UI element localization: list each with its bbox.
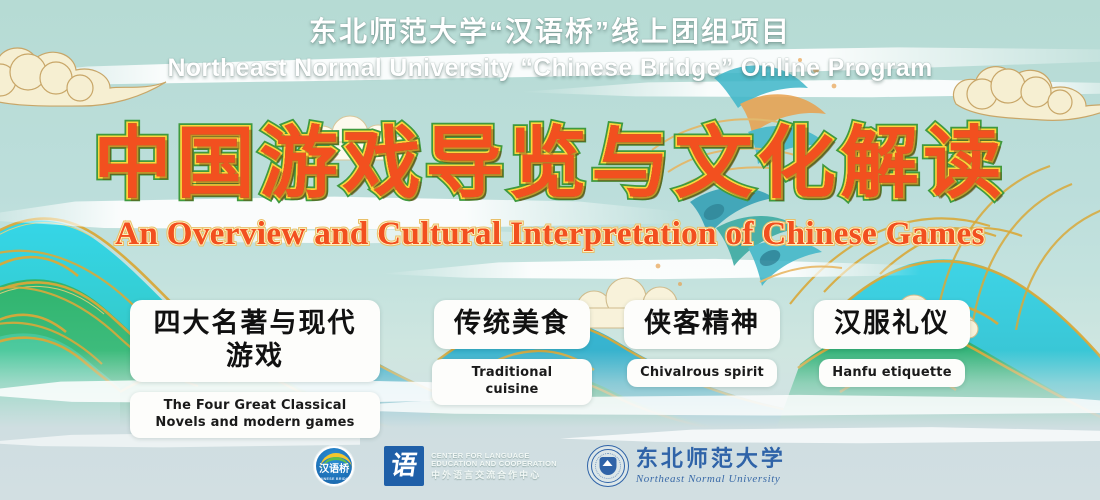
topic-3-en: Chivalrous spirit bbox=[627, 359, 777, 388]
clec-line-3: 中外语言交流合作中心 bbox=[431, 470, 557, 480]
main-title-block: 中国游戏导览与文化解读 bbox=[0, 124, 1100, 202]
chinese-bridge-logo-cn: 汉语桥 bbox=[316, 465, 352, 475]
header-block: 东北师范大学“汉语桥”线上团组项目 Northeast Normal Unive… bbox=[0, 14, 1100, 84]
topic-card-3[interactable]: 侠客精神 Chivalrous spirit bbox=[622, 300, 782, 387]
topic-1-en: The Four Great Classical Novels and mode… bbox=[130, 392, 380, 438]
university-seal-icon bbox=[587, 445, 629, 487]
university-name-en: Northeast Normal University bbox=[636, 473, 786, 485]
footer-logo-bar: 汉语桥 CHINESE BRIDGE 语 CENTER FOR LANGUAGE… bbox=[0, 438, 1100, 494]
header-title-en: Northeast Normal University “Chinese Bri… bbox=[0, 53, 1100, 84]
university-text-block: 东北师范大学 Northeast Normal University bbox=[636, 447, 786, 484]
main-title-en: An Overview and Cultural Interpretation … bbox=[115, 218, 985, 251]
topic-1-cn: 四大名著与现代游戏 bbox=[130, 300, 380, 382]
main-subtitle-block: An Overview and Cultural Interpretation … bbox=[0, 218, 1100, 251]
university-name-cn: 东北师范大学 bbox=[636, 447, 786, 471]
seal-shield-icon bbox=[599, 457, 616, 475]
topic-card-1[interactable]: 四大名著与现代游戏 The Four Great Classical Novel… bbox=[130, 300, 380, 438]
header-title-cn: 东北师范大学“汉语桥”线上团组项目 bbox=[0, 14, 1100, 49]
topic-4-en: Hanfu etiquette bbox=[819, 359, 964, 388]
topic-3-cn: 侠客精神 bbox=[624, 300, 780, 349]
topic-card-2[interactable]: 传统美食 Traditional cuisine bbox=[432, 300, 592, 405]
poster-canvas: 东北师范大学“汉语桥”线上团组项目 Northeast Normal Unive… bbox=[0, 0, 1100, 500]
chinese-bridge-logo-en: CHINESE BRIDGE bbox=[316, 477, 352, 481]
topic-list: 四大名著与现代游戏 The Four Great Classical Novel… bbox=[0, 300, 1100, 410]
clec-text-block: CENTER FOR LANGUAGE EDUCATION AND COOPER… bbox=[431, 452, 557, 480]
chinese-bridge-logo: 汉语桥 CHINESE BRIDGE bbox=[314, 446, 354, 486]
clec-line-2: EDUCATION AND COOPERATION bbox=[431, 460, 557, 468]
clec-logo: 语 CENTER FOR LANGUAGE EDUCATION AND COOP… bbox=[384, 446, 557, 486]
topic-4-cn: 汉服礼仪 bbox=[814, 300, 970, 349]
university-logo: 东北师范大学 Northeast Normal University bbox=[587, 445, 786, 487]
main-title-cn: 中国游戏导览与文化解读 bbox=[93, 124, 1006, 202]
clec-mark-glyph: 语 bbox=[389, 453, 419, 479]
topic-2-cn: 传统美食 bbox=[434, 300, 590, 349]
topic-2-en: Traditional cuisine bbox=[432, 359, 592, 405]
clec-mark-icon: 语 bbox=[384, 446, 424, 486]
chinese-bridge-badge-icon: 汉语桥 CHINESE BRIDGE bbox=[314, 446, 354, 486]
topic-card-4[interactable]: 汉服礼仪 Hanfu etiquette bbox=[812, 300, 972, 387]
